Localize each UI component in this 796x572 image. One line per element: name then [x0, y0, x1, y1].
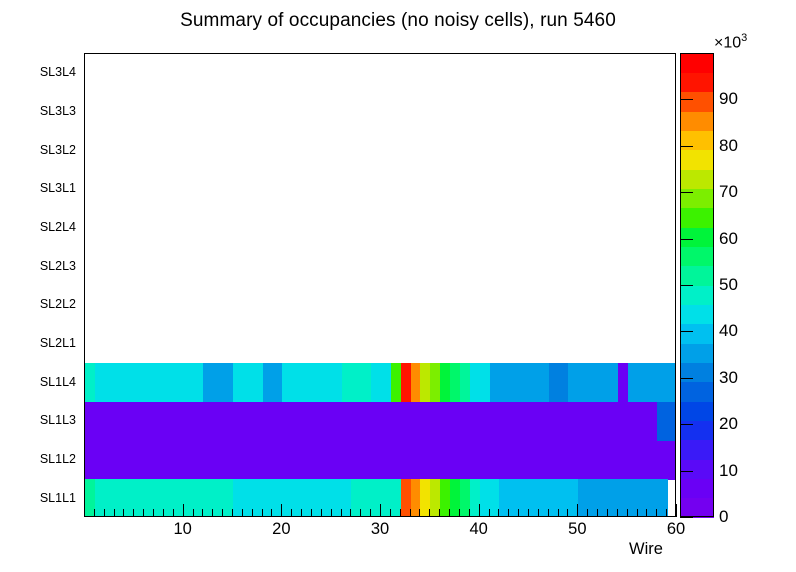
- x-axis-minor-tick: [271, 509, 272, 517]
- color-bar-tick-label: 40: [719, 321, 738, 341]
- heatmap-cell: [292, 441, 302, 480]
- color-bar-tick-label: 0: [719, 507, 728, 527]
- heatmap-cell: [647, 402, 657, 441]
- heatmap-cell: [588, 402, 598, 441]
- x-axis-major-tick: [380, 504, 381, 517]
- x-axis-minor-tick: [429, 509, 430, 517]
- x-axis-minor-tick: [193, 509, 194, 517]
- x-axis-tick-label: 10: [173, 520, 191, 539]
- color-bar-tick: [680, 331, 693, 332]
- color-bar-band: [680, 111, 714, 131]
- heatmap-cell: [608, 363, 618, 402]
- heatmap-cells: [85, 54, 675, 516]
- x-axis-tick-label: 40: [469, 520, 487, 539]
- heatmap-cell: [292, 402, 302, 441]
- x-axis-minor-tick: [666, 509, 667, 517]
- x-axis-minor-tick: [558, 509, 559, 517]
- color-bar-tick: [680, 99, 693, 100]
- x-axis-major-tick: [676, 504, 677, 517]
- heatmap-cell: [539, 402, 549, 441]
- y-axis-label-sl2l1: SL2L1: [40, 336, 76, 350]
- color-bar-tick: [680, 424, 693, 425]
- heatmap-cell: [371, 402, 381, 441]
- color-bar-tick-label: 60: [719, 229, 738, 249]
- x-axis-minor-tick: [301, 509, 302, 517]
- x-axis-minor-tick: [597, 509, 598, 517]
- color-bar-tick: [680, 471, 693, 472]
- heatmap-cell: [184, 363, 194, 402]
- x-axis-minor-tick: [242, 509, 243, 517]
- heatmap-cell: [223, 441, 233, 480]
- heatmap-cell: [253, 402, 263, 441]
- heatmap-cell: [391, 402, 401, 441]
- heatmap-cell: [332, 441, 342, 480]
- heatmap-cell: [647, 441, 657, 480]
- heatmap-cell: [440, 402, 450, 441]
- heatmap-cell: [667, 363, 675, 402]
- heatmap-cell: [332, 363, 342, 402]
- heatmap-cell: [519, 441, 529, 480]
- heatmap-cell: [519, 363, 529, 402]
- x-axis-minor-tick: [232, 509, 233, 517]
- x-axis-minor-tick: [617, 509, 618, 517]
- color-bar-band: [680, 459, 714, 479]
- color-bar-band: [680, 478, 714, 498]
- heatmap-cell: [351, 402, 361, 441]
- y-axis-label-sl3l4: SL3L4: [40, 65, 76, 79]
- color-bar-band: [680, 304, 714, 324]
- x-axis-tick-label: 50: [568, 520, 586, 539]
- color-bar-band: [680, 208, 714, 228]
- heatmap-cell: [608, 441, 618, 480]
- heatmap-cell: [144, 402, 154, 441]
- x-axis-minor-tick: [498, 509, 499, 517]
- x-axis-minor-tick: [646, 509, 647, 517]
- heatmap-cell: [628, 363, 638, 402]
- x-axis-minor-tick: [390, 509, 391, 517]
- color-bar-band: [680, 53, 714, 73]
- color-bar-exponent: ×103: [714, 32, 747, 52]
- color-bar-band: [680, 246, 714, 266]
- color-bar-band: [680, 72, 714, 92]
- x-axis-major-tick: [577, 504, 578, 517]
- x-axis-minor-tick: [331, 509, 332, 517]
- y-axis-label-sl3l2: SL3L2: [40, 143, 76, 157]
- heatmap-cell: [588, 441, 598, 480]
- heatmap-cell: [272, 402, 282, 441]
- heatmap-cell: [164, 363, 174, 402]
- y-axis-label-sl1l3: SL1L3: [40, 413, 76, 427]
- heatmap-cell: [292, 363, 302, 402]
- x-axis-title: Wire: [629, 540, 663, 559]
- heatmap-cell: [628, 441, 638, 480]
- x-axis-minor-tick: [291, 509, 292, 517]
- heatmap-cell: [391, 363, 401, 402]
- x-axis-minor-tick: [321, 509, 322, 517]
- heatmap-cell: [647, 363, 657, 402]
- y-axis-labels: SL1L1SL1L2SL1L3SL1L4SL2L1SL2L2SL2L3SL2L4…: [0, 53, 76, 517]
- x-axis-minor-tick: [508, 509, 509, 517]
- x-axis-minor-tick: [173, 509, 174, 517]
- x-axis-minor-tick: [449, 509, 450, 517]
- heatmap-cell: [223, 363, 233, 402]
- heatmap-cell: [203, 402, 213, 441]
- heatmap-cell: [164, 402, 174, 441]
- x-axis-minor-tick: [262, 509, 263, 517]
- heatmap-cell: [371, 363, 381, 402]
- heatmap-cell: [519, 402, 529, 441]
- x-axis-minor-tick: [548, 509, 549, 517]
- color-bar-tick: [680, 239, 693, 240]
- heatmap-cell: [105, 441, 115, 480]
- x-axis-minor-tick: [350, 509, 351, 517]
- y-axis-label-sl1l1: SL1L1: [40, 491, 76, 505]
- heatmap-cell: [223, 402, 233, 441]
- x-axis-minor-tick: [469, 509, 470, 517]
- heatmap-cell: [105, 363, 115, 402]
- heatmap-cell: [332, 402, 342, 441]
- color-bar-tick: [680, 517, 693, 518]
- x-axis-tick-label: 60: [667, 520, 685, 539]
- heatmap-cell: [480, 441, 490, 480]
- heatmap-cell: [460, 402, 470, 441]
- heatmap-cell: [568, 402, 578, 441]
- x-axis-minor-tick: [104, 509, 105, 517]
- heatmap-cell: [144, 441, 154, 480]
- color-bar-band: [680, 343, 714, 363]
- heatmap-cell: [144, 363, 154, 402]
- heatmap-cell: [539, 363, 549, 402]
- color-bar-band: [680, 227, 714, 247]
- x-axis-major-tick: [183, 504, 184, 517]
- x-axis-minor-tick: [212, 509, 213, 517]
- x-axis-minor-tick: [114, 509, 115, 517]
- heatmap-cell: [480, 402, 490, 441]
- chart-canvas: Summary of occupancies (no noisy cells),…: [0, 0, 796, 572]
- heatmap-cell: [420, 363, 430, 402]
- color-bar-tick-label: 50: [719, 275, 738, 295]
- heatmap-cell: [499, 363, 509, 402]
- x-axis-minor-tick: [400, 509, 401, 517]
- color-bar-tick-label: 20: [719, 414, 738, 434]
- x-axis-minor-tick: [637, 509, 638, 517]
- heatmap-cell: [124, 363, 134, 402]
- x-axis-minor-tick: [419, 509, 420, 517]
- heatmap-cell: [667, 402, 675, 441]
- x-axis-minor-tick: [370, 509, 371, 517]
- y-axis-label-sl1l4: SL1L4: [40, 375, 76, 389]
- x-axis-tick-label: 20: [272, 520, 290, 539]
- y-axis-label-sl3l3: SL3L3: [40, 104, 76, 118]
- heatmap-cell: [667, 441, 675, 480]
- heatmap-cell: [440, 363, 450, 402]
- x-axis-minor-tick: [459, 509, 460, 517]
- color-bar-band: [680, 266, 714, 286]
- x-axis-minor-tick: [607, 509, 608, 517]
- x-axis-minor-tick: [489, 509, 490, 517]
- color-bar-exponent-power: 3: [741, 32, 747, 44]
- heatmap-cell: [499, 441, 509, 480]
- heatmap-cell: [391, 441, 401, 480]
- color-bar-band: [680, 92, 714, 112]
- x-axis-minor-tick: [528, 509, 529, 517]
- y-axis-label-sl3l1: SL3L1: [40, 181, 76, 195]
- heatmap-cell: [460, 441, 470, 480]
- x-axis-minor-tick: [133, 509, 134, 517]
- heatmap-cell: [184, 441, 194, 480]
- heatmap-cell: [420, 402, 430, 441]
- x-axis-minor-tick: [439, 509, 440, 517]
- color-bar-tick: [680, 285, 693, 286]
- x-axis-minor-tick: [311, 509, 312, 517]
- x-axis-minor-tick: [202, 509, 203, 517]
- heatmap-cell: [203, 363, 213, 402]
- heatmap-cell: [312, 363, 322, 402]
- heatmap-cell: [351, 363, 361, 402]
- x-axis-minor-tick: [567, 509, 568, 517]
- color-bar-tick-label: 80: [719, 136, 738, 156]
- heatmap-cell: [480, 363, 490, 402]
- heatmap-cell: [588, 363, 598, 402]
- heatmap-cell: [351, 441, 361, 480]
- heatmap-cell: [440, 441, 450, 480]
- heatmap-cell: [312, 402, 322, 441]
- x-axis-minor-tick: [627, 509, 628, 517]
- x-axis-minor-tick: [143, 509, 144, 517]
- heatmap-cell: [272, 441, 282, 480]
- x-axis-minor-tick: [123, 509, 124, 517]
- x-axis-minor-tick: [518, 509, 519, 517]
- heatmap-cell: [371, 441, 381, 480]
- color-bar-tick: [680, 378, 693, 379]
- y-axis-label-sl1l2: SL1L2: [40, 452, 76, 466]
- x-axis-minor-tick: [341, 509, 342, 517]
- heatmap-cell: [272, 363, 282, 402]
- color-bar-band: [680, 401, 714, 421]
- page-title: Summary of occupancies (no noisy cells),…: [0, 10, 796, 32]
- heatmap-cell: [203, 441, 213, 480]
- color-bar-band: [680, 130, 714, 150]
- color-bar-band: [680, 362, 714, 382]
- x-axis-minor-tick: [163, 509, 164, 517]
- heatmap-cell: [628, 402, 638, 441]
- x-axis-minor-tick: [538, 509, 539, 517]
- heatmap-cell: [420, 441, 430, 480]
- heatmap-cell: [184, 402, 194, 441]
- heatmap-cell: [568, 363, 578, 402]
- color-bar-band: [680, 150, 714, 170]
- y-axis-label-sl2l3: SL2L3: [40, 259, 76, 273]
- x-axis-minor-tick: [410, 509, 411, 517]
- color-bar-band: [680, 285, 714, 305]
- x-axis-minor-tick: [94, 509, 95, 517]
- heatmap-cell: [164, 441, 174, 480]
- x-axis-major-tick: [479, 504, 480, 517]
- heatmap-cell: [253, 363, 263, 402]
- x-axis-minor-tick: [222, 509, 223, 517]
- color-bar-band: [680, 440, 714, 460]
- x-axis-minor-tick: [360, 509, 361, 517]
- heatmap-cell: [608, 402, 618, 441]
- heatmap-cell: [460, 363, 470, 402]
- color-bar-band: [680, 382, 714, 402]
- heatmap-cell: [124, 441, 134, 480]
- x-axis-minor-tick: [153, 509, 154, 517]
- color-bar-band: [680, 324, 714, 344]
- heatmap-cell: [124, 402, 134, 441]
- heatmap-cell: [539, 441, 549, 480]
- color-bar-tick-label: 30: [719, 368, 738, 388]
- color-bar-band: [680, 498, 714, 518]
- x-axis-minor-tick: [656, 509, 657, 517]
- x-axis-minor-tick: [252, 509, 253, 517]
- color-bar-tick-label: 70: [719, 182, 738, 202]
- x-axis-tick-label: 30: [371, 520, 389, 539]
- y-axis-label-sl2l4: SL2L4: [40, 220, 76, 234]
- color-bar-tick-label: 90: [719, 89, 738, 109]
- x-axis-minor-tick: [587, 509, 588, 517]
- heatmap-cell: [568, 441, 578, 480]
- color-bar-tick-label: 10: [719, 461, 738, 481]
- heatmap-cell: [499, 402, 509, 441]
- color-bar-tick: [680, 146, 693, 147]
- plot-frame: [84, 53, 676, 517]
- color-bar-band: [680, 169, 714, 189]
- y-axis-label-sl2l2: SL2L2: [40, 297, 76, 311]
- heatmap-cell: [312, 441, 322, 480]
- color-bar-tick: [680, 192, 693, 193]
- x-axis-major-tick: [281, 504, 282, 517]
- heatmap-cell: [253, 441, 263, 480]
- heatmap-cell: [105, 402, 115, 441]
